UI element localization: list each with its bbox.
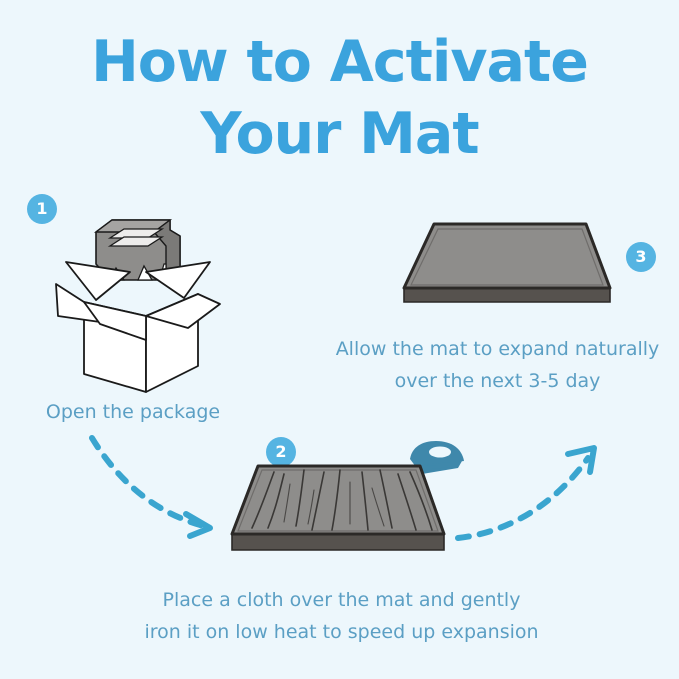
dashed-arrow-icon-step1-to-step2 <box>86 432 246 542</box>
step-2-caption-line-2: iron it on low heat to speed up expansio… <box>129 616 554 648</box>
step-2-caption-line-1: Place a cloth over the mat and gently <box>129 584 554 616</box>
step-1-caption-line-1: Open the package <box>0 396 266 428</box>
infographic-page: How to Activate Your Mat 1 <box>0 0 679 679</box>
step-3-caption-line-2: over the next 3-5 day <box>313 365 679 397</box>
step-badge-3: 3 <box>626 242 656 272</box>
step-3-caption: Allow the mat to expand naturally over t… <box>313 333 679 397</box>
page-title-line-1: How to Activate <box>0 26 679 98</box>
step-1-caption: Open the package <box>0 396 266 428</box>
page-title: How to Activate Your Mat <box>0 26 679 170</box>
page-title-line-2: Your Mat <box>0 98 679 170</box>
wrinkled-mat-illustration <box>228 460 448 565</box>
open-box-illustration <box>38 212 248 397</box>
step-3-caption-line-1: Allow the mat to expand naturally <box>313 333 679 365</box>
step-2-caption: Place a cloth over the mat and gently ir… <box>129 584 554 648</box>
dashed-arrow-icon-step2-to-step3 <box>452 438 617 550</box>
flat-mat-illustration <box>400 218 625 318</box>
